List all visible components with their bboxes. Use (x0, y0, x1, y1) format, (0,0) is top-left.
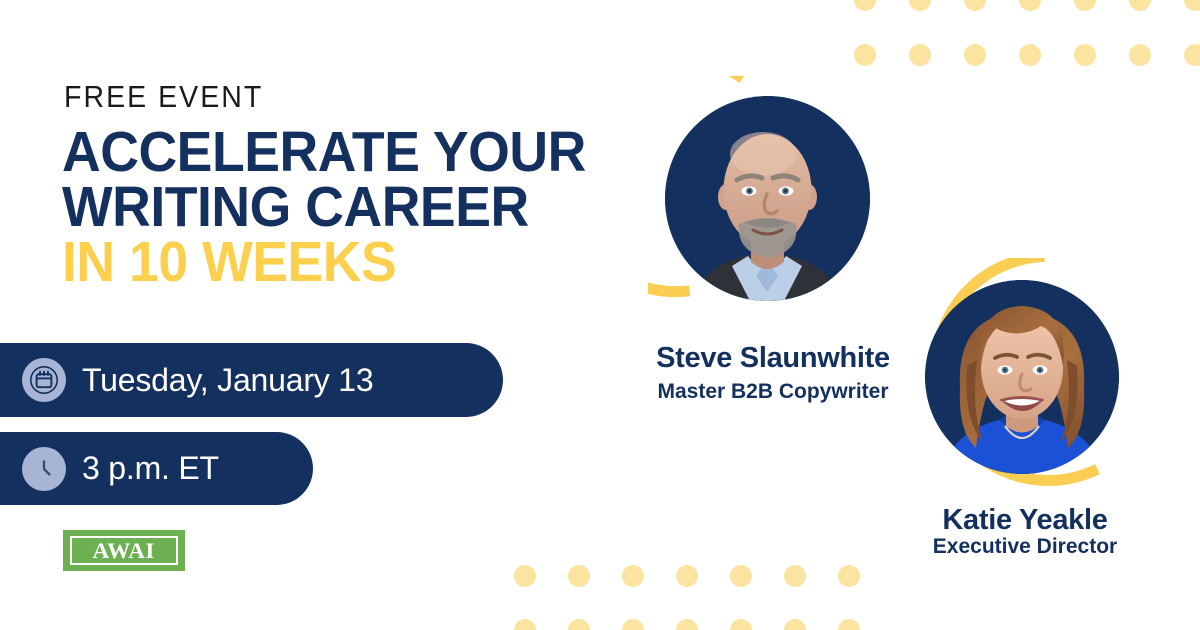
headline-line-2: WRITING CAREER (62, 180, 664, 235)
speaker-name-katie: Katie Yeakle (875, 505, 1175, 535)
event-date-badge: Tuesday, January 13 (0, 343, 503, 417)
event-time-label: 3 p.m. ET (82, 450, 219, 487)
decorative-dot (1129, 44, 1151, 66)
decorative-dot (730, 619, 752, 630)
awai-logo: AWAI (63, 530, 185, 571)
speaker-card-steve (648, 76, 892, 320)
dot-grid-bottom-center (514, 565, 892, 630)
page-title: ACCELERATE YOUR WRITING CAREER IN 10 WEE… (62, 125, 664, 290)
speaker-name-steve: Steve Slaunwhite (608, 343, 938, 373)
decorative-dot (676, 565, 698, 587)
dot-grid-top-right (854, 0, 1200, 99)
event-time-badge: 3 p.m. ET (0, 432, 313, 505)
decorative-dot (514, 565, 536, 587)
decorative-dot (909, 0, 931, 11)
decorative-dot (730, 565, 752, 587)
awai-logo-border: AWAI (70, 536, 178, 565)
decorative-dot (676, 619, 698, 630)
headline-line-1: ACCELERATE YOUR (62, 125, 664, 180)
decorative-dot (909, 44, 931, 66)
calendar-icon (22, 358, 66, 402)
headline-accent-line: IN 10 WEEKS (62, 235, 664, 290)
katie-yeakle-photo (925, 280, 1119, 474)
speaker-role-katie: Executive Director (875, 536, 1175, 558)
decorative-dot (1184, 44, 1200, 66)
decorative-dot (1019, 0, 1041, 11)
decorative-dot (1074, 0, 1096, 11)
decorative-dot (838, 565, 860, 587)
decorative-dot (622, 619, 644, 630)
speaker-role-steve: Master B2B Copywriter (608, 381, 938, 403)
decorative-dot (854, 0, 876, 11)
decorative-dot (964, 44, 986, 66)
clock-icon (22, 447, 66, 491)
decorative-dot (964, 0, 986, 11)
decorative-dot (568, 619, 590, 630)
promo-banner: FREE EVENT ACCELERATE YOUR WRITING CAREE… (0, 0, 1200, 630)
decorative-dot (854, 44, 876, 66)
decorative-dot (568, 565, 590, 587)
event-kicker: FREE EVENT (64, 81, 263, 112)
decorative-dot (1129, 0, 1151, 11)
awai-wordmark: AWAI (93, 540, 155, 562)
decorative-dot (622, 565, 644, 587)
decorative-dot (1184, 0, 1200, 11)
steve-slaunwhite-photo (665, 96, 870, 301)
decorative-dot (784, 565, 806, 587)
event-date-label: Tuesday, January 13 (82, 362, 373, 399)
decorative-dot (1019, 44, 1041, 66)
decorative-dot (784, 619, 806, 630)
speaker-card-katie (905, 258, 1139, 492)
decorative-dot (1074, 44, 1096, 66)
decorative-dot (838, 619, 860, 630)
decorative-dot (514, 619, 536, 630)
